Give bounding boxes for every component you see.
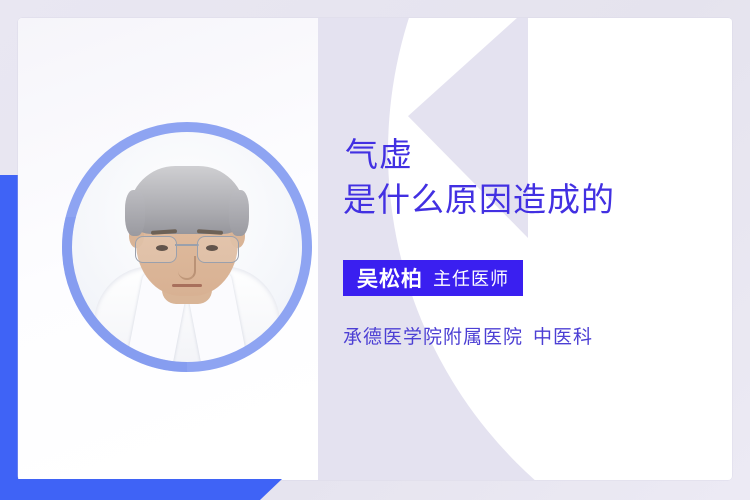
doctor-name: 吴松柏 bbox=[357, 263, 423, 293]
doctor-affiliation: 承德医学院附属医院中医科 bbox=[343, 322, 593, 349]
left-blue-accent-bar bbox=[0, 175, 18, 500]
content-card: 气虚 是什么原因造成的 吴松柏 主任医师 承德医学院附属医院中医科 bbox=[18, 18, 732, 480]
department-name: 中医科 bbox=[533, 327, 593, 348]
headline-line-1: 气虚 bbox=[345, 132, 713, 177]
bottom-blue-accent-bar bbox=[0, 479, 282, 500]
headline-line-2: 是什么原因造成的 bbox=[343, 177, 713, 222]
headline-block: 气虚 是什么原因造成的 bbox=[343, 132, 713, 222]
poster-canvas: 气虚 是什么原因造成的 吴松柏 主任医师 承德医学院附属医院中医科 bbox=[0, 0, 750, 500]
doctor-rank: 主任医师 bbox=[433, 265, 509, 291]
doctor-portrait bbox=[62, 122, 312, 372]
doctor-name-badge: 吴松柏 主任医师 bbox=[343, 260, 523, 296]
portrait-ring bbox=[62, 122, 312, 372]
hospital-name: 承德医学院附属医院 bbox=[343, 327, 523, 348]
swoosh-circle-cutout bbox=[388, 18, 732, 480]
